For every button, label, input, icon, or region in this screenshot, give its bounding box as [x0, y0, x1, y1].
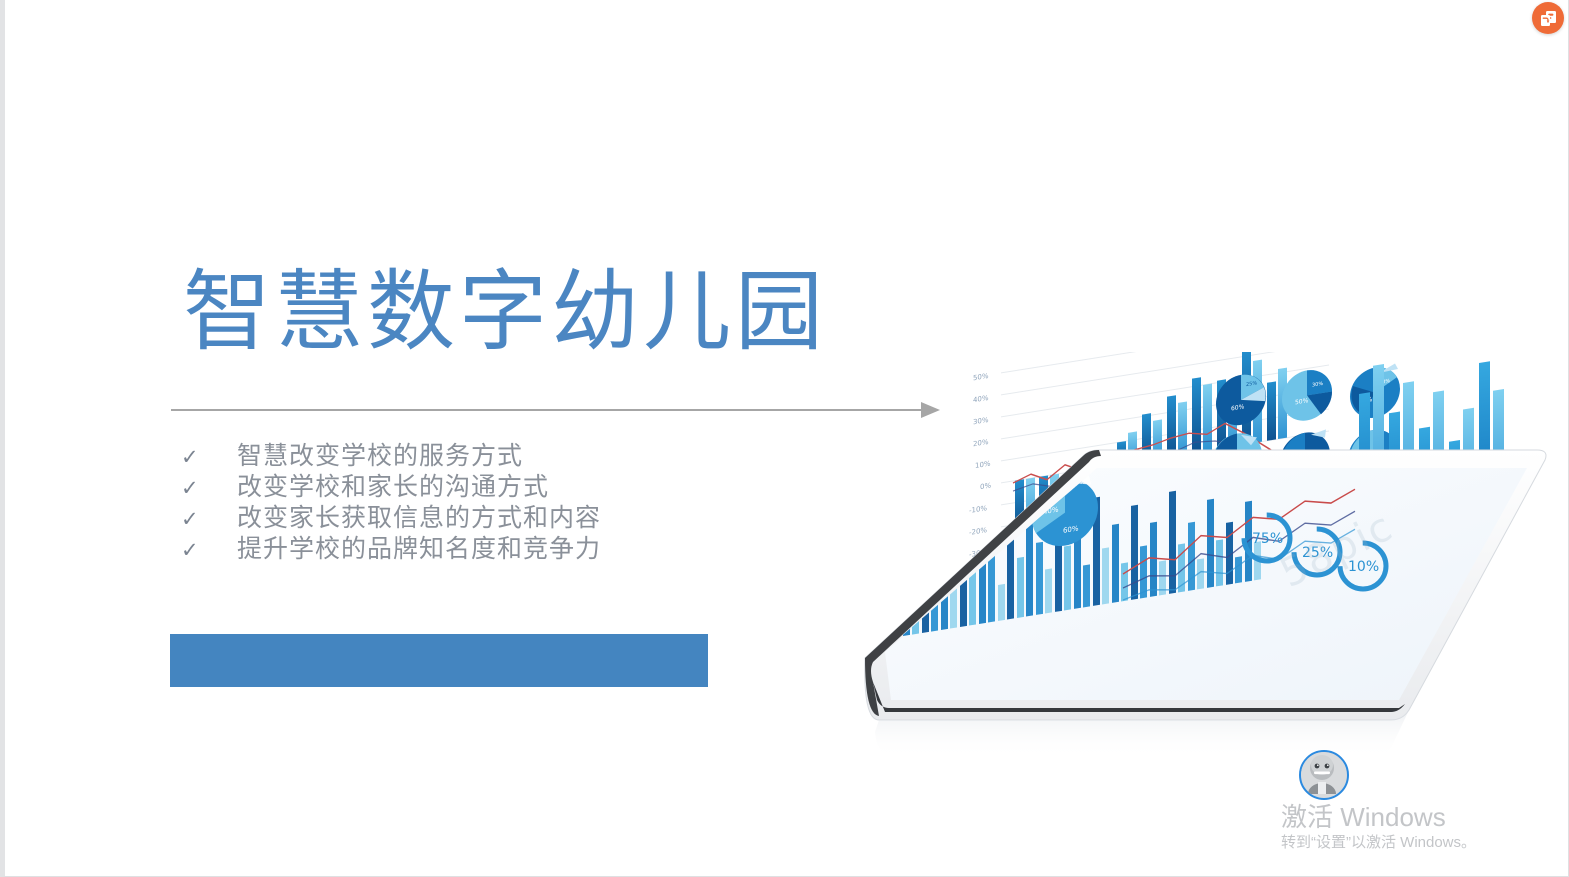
slide-canvas: 智慧数字幼儿园 ✓ 智慧改变学校的服务方式 ✓ 改变学校和家长的沟通方式 ✓ 改…	[0, 0, 1569, 877]
arrow-line	[171, 409, 923, 411]
slide-convert-icon[interactable]	[1532, 2, 1564, 34]
accent-bar-placeholder	[170, 634, 708, 687]
svg-text:75%: 75%	[1252, 531, 1283, 547]
list-item: ✓ 改变学校和家长的沟通方式	[181, 471, 601, 502]
list-item-label: 改变家长获取信息的方式和内容	[237, 502, 601, 533]
list-item-label: 提升学校的品牌知名度和竞争力	[237, 533, 601, 564]
check-icon: ✓	[181, 442, 237, 473]
svg-text:20%: 20%	[973, 437, 989, 448]
svg-text:-20%: -20%	[969, 525, 987, 537]
title-arrow-divider	[171, 398, 953, 422]
list-item: ✓ 改变家长获取信息的方式和内容	[181, 502, 601, 533]
svg-text:10%: 10%	[975, 459, 991, 470]
svg-text:50%: 50%	[973, 371, 989, 382]
svg-text:0%: 0%	[980, 480, 991, 491]
list-item-label: 智慧改变学校的服务方式	[237, 440, 523, 471]
bullet-list: ✓ 智慧改变学校的服务方式 ✓ 改变学校和家长的沟通方式 ✓ 改变家长获取信息的…	[181, 440, 601, 564]
user-avatar-icon	[1299, 750, 1349, 800]
arrow-head-icon	[921, 402, 940, 418]
check-icon: ✓	[181, 504, 237, 535]
check-icon: ✓	[181, 535, 237, 566]
list-item: ✓ 提升学校的品牌知名度和竞争力	[181, 533, 601, 564]
page-title: 智慧数字幼儿园	[183, 268, 827, 356]
activation-subtitle: 转到“设置”以激活 Windows。	[1281, 832, 1496, 854]
activation-title: 激活 Windows	[1281, 802, 1496, 832]
list-item-label: 改变学校和家长的沟通方式	[237, 471, 549, 502]
check-icon: ✓	[181, 473, 237, 504]
list-item: ✓ 智慧改变学校的服务方式	[181, 440, 601, 471]
svg-text:-10%: -10%	[969, 503, 987, 515]
svg-text:40%: 40%	[973, 393, 989, 404]
windows-activation-watermark: 激活 Windows 转到“设置”以激活 Windows。	[1281, 802, 1496, 854]
svg-text:30%: 30%	[973, 415, 989, 426]
